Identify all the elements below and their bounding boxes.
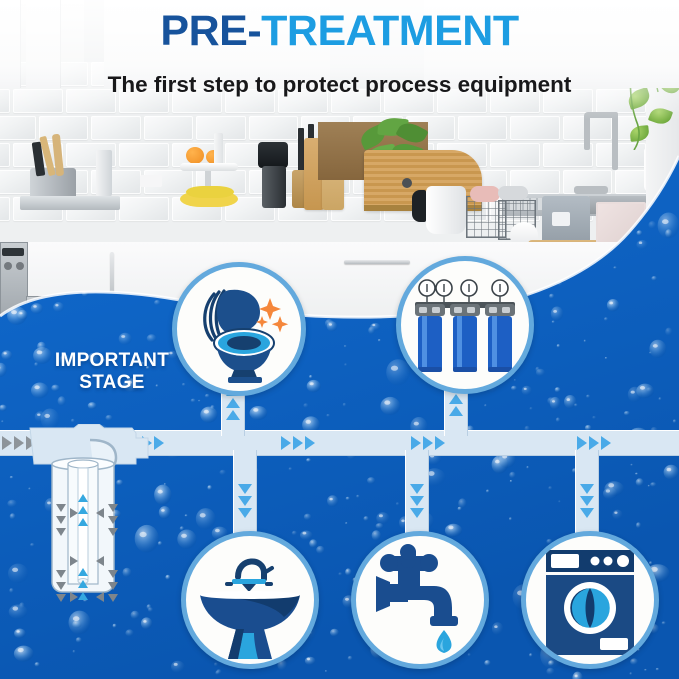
flow-arrows-down-washer bbox=[580, 484, 594, 518]
icon-circle-toilet[interactable] bbox=[172, 262, 306, 396]
flow-arrows-segment-3 bbox=[411, 436, 445, 450]
title-part-two: TREATMENT bbox=[261, 7, 518, 55]
toilet-icon bbox=[184, 274, 294, 384]
washing-machine-icon bbox=[534, 542, 646, 658]
flow-arrows-segment-4 bbox=[577, 436, 611, 450]
cartridge-filter-cutaway bbox=[24, 424, 158, 624]
icon-circle-sink[interactable] bbox=[181, 531, 319, 669]
pedestal-sink-icon bbox=[192, 541, 308, 659]
title-part-one: PRE- bbox=[160, 7, 261, 55]
flow-arrows-down-sink bbox=[238, 484, 252, 518]
filter-housing-icon bbox=[407, 267, 523, 383]
callout-line-2: STAGE bbox=[22, 372, 202, 394]
page-title: PRE-TREATMENT bbox=[0, 10, 679, 53]
callout-line-1: IMPORTANT bbox=[22, 350, 202, 372]
flow-arrows-segment-2 bbox=[281, 436, 315, 450]
flow-arrows-down-tap bbox=[410, 484, 424, 518]
page-subtitle: The first step to protect process equipm… bbox=[0, 72, 679, 98]
important-stage-callout: IMPORTANT STAGE bbox=[22, 350, 202, 395]
tap-faucet-icon bbox=[362, 542, 478, 658]
icon-circle-filter-housings[interactable] bbox=[396, 256, 534, 394]
icon-circle-washing-machine[interactable] bbox=[521, 531, 659, 669]
infographic-canvas: PRE-TREATMENT The first step to protect … bbox=[0, 0, 679, 679]
icon-circle-tap[interactable] bbox=[351, 531, 489, 669]
